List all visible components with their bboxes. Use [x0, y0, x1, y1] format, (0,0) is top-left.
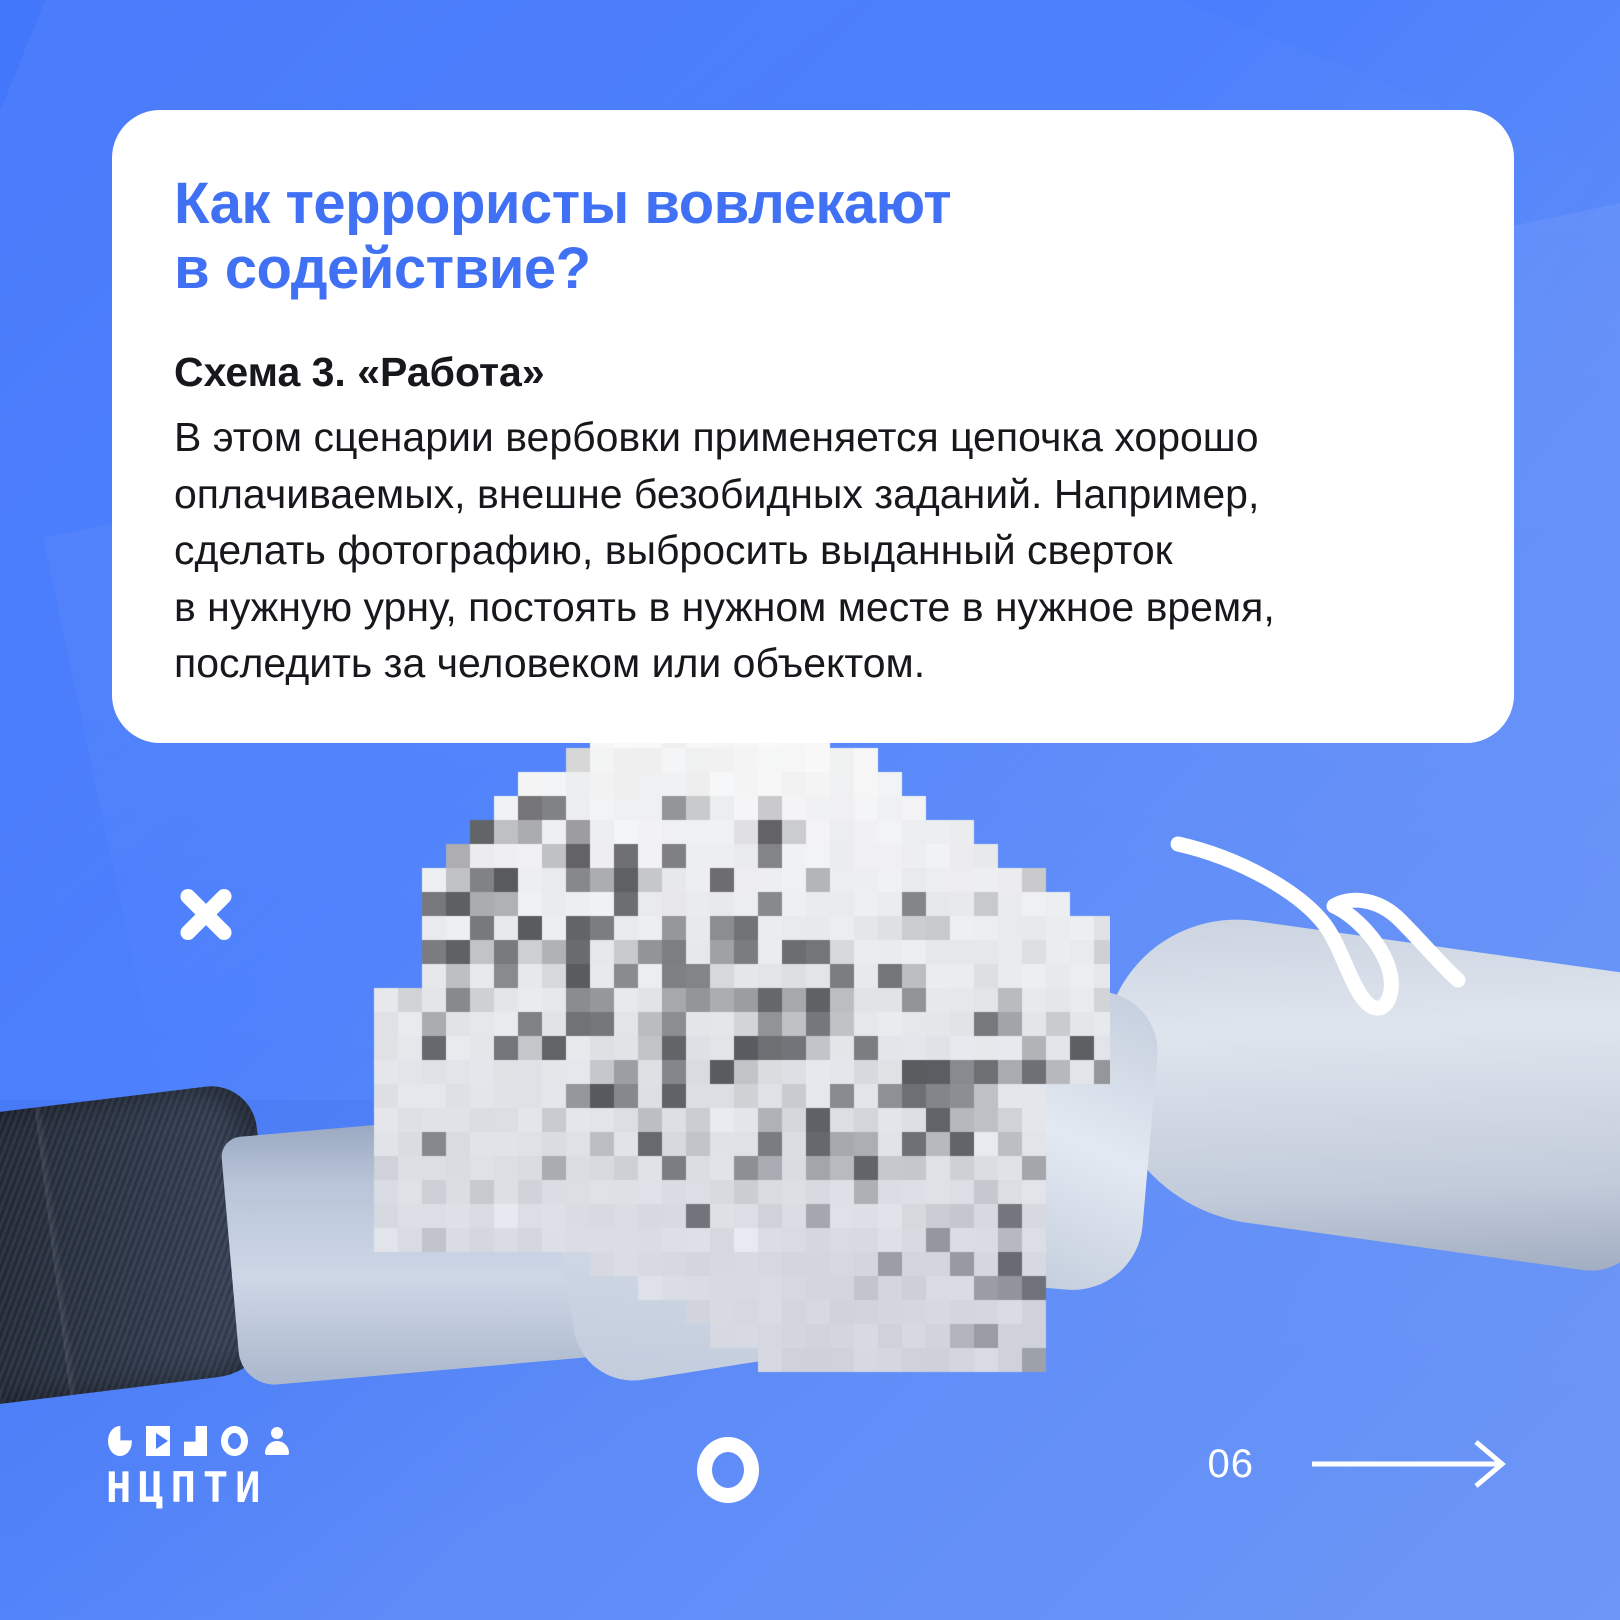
- sleeve-seam-b: [35, 1107, 78, 1396]
- play-square-icon: [146, 1426, 170, 1456]
- left-forearm: [220, 1098, 700, 1387]
- scheme-description: В этом сценарии вербовки применяется цеп…: [174, 409, 1442, 692]
- sleeve-seam-a: [0, 1116, 5, 1405]
- content-card: Как террористы вовлекают в содействие? С…: [112, 110, 1514, 743]
- pixelated-photo-sheet: [350, 700, 1110, 1400]
- ring-icon: [221, 1426, 248, 1456]
- left-thumb: [623, 1031, 827, 1210]
- logo-wordmark: НЦПТИ: [106, 1467, 286, 1509]
- right-thumb: [852, 1049, 1008, 1177]
- x-mark-decoration: [170, 878, 242, 950]
- slide-canvas: Как террористы вовлекают в содействие? С…: [0, 0, 1620, 1620]
- loop-squiggle-decoration: [1120, 780, 1480, 1020]
- right-hand: [877, 974, 1162, 1296]
- left-sleeve: [0, 1081, 286, 1409]
- page-number: 06: [1208, 1442, 1255, 1487]
- brand-logo[interactable]: НЦПТИ: [106, 1424, 286, 1509]
- arrow-right-icon[interactable]: [1310, 1436, 1510, 1492]
- pager: 06: [1208, 1436, 1511, 1492]
- background-facet-shadow: [0, 1100, 1000, 1620]
- right-knuckle: [920, 966, 1069, 1090]
- scheme-subtitle: Схема 3. «Работа»: [174, 348, 1442, 397]
- left-hand: [541, 1071, 909, 1389]
- pixelated-photo-canvas: [350, 700, 1110, 1400]
- logo-icon-row: [108, 1424, 286, 1458]
- pacman-icon: [108, 1426, 132, 1456]
- person-icon: [262, 1426, 286, 1456]
- step-block-icon: [184, 1426, 208, 1456]
- ring-decoration: [697, 1437, 759, 1503]
- page-title: Как террористы вовлекают в содействие?: [174, 172, 1442, 302]
